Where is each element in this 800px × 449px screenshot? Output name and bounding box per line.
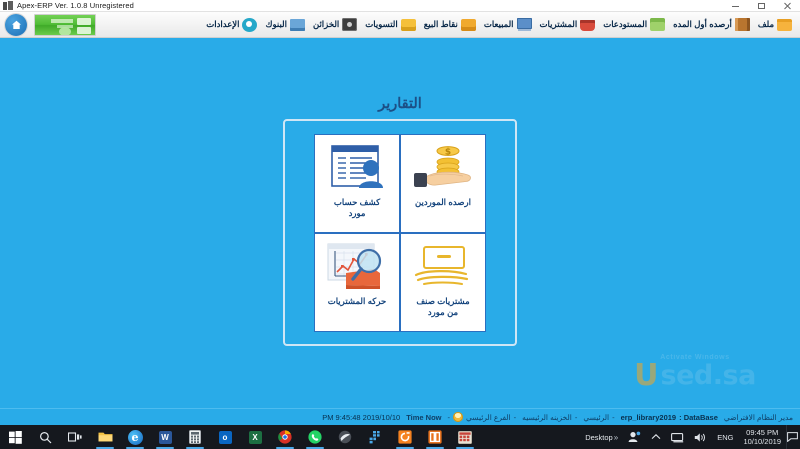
menu-item-file[interactable]: ملف: [754, 13, 796, 37]
word-icon[interactable]: W: [150, 425, 180, 449]
tile-label: حركه المشتريات: [326, 296, 389, 307]
tile-supplier-balances[interactable]: $ ارصده الموردين: [400, 134, 486, 233]
desktop-label: Desktop: [585, 433, 613, 442]
menu-item-settings[interactable]: الإعدادات: [202, 13, 261, 37]
window-titlebar: Apex-ERP Ver. 1.0.8 Unregistered: [0, 0, 800, 12]
menu-item-banks[interactable]: البنوك: [261, 13, 308, 37]
status-branch2: - الفرع الرئيسي -: [445, 412, 520, 422]
used-sa-logo: U sed.sa: [604, 362, 786, 390]
settlement-icon: [401, 17, 416, 32]
hand-with-coins-icon: $: [401, 135, 485, 197]
grid-app-icon[interactable]: [450, 425, 480, 449]
bank-icon: [290, 17, 305, 32]
status-time: Time Now: [403, 413, 444, 422]
safe-icon: [342, 17, 357, 32]
language-indicator[interactable]: ENG: [712, 425, 738, 449]
clock-time: 09:45 PM: [746, 428, 778, 437]
tile-item-purchases-from-supplier[interactable]: مشتريات صنف من مورد: [400, 233, 486, 332]
desktop-root: Apex-ERP Ver. 1.0.8 Unregistered ملف أرص…: [0, 0, 800, 449]
people-icon[interactable]: [623, 425, 646, 449]
status-database: DataBase : erp_library2019: [618, 413, 721, 422]
pos-icon: [461, 17, 476, 32]
tile-label: مشتريات صنف: [414, 296, 471, 307]
windows-taskbar: e W o X: [0, 425, 800, 449]
menu-item-label: التسويات: [365, 19, 397, 30]
menu-item-label: المستودعات: [603, 19, 647, 30]
user-avatar-icon: [453, 412, 463, 422]
status-separator: -: [448, 413, 451, 422]
status-branch-text: الرئيسي: [583, 413, 609, 422]
chrome-icon[interactable]: [270, 425, 300, 449]
page-title: التقارير: [0, 96, 800, 112]
status-treasury-text: الخزينه الرئيسيه: [522, 413, 572, 422]
media-icon[interactable]: [330, 425, 360, 449]
chart-magnifier-icon: [315, 234, 399, 296]
outlook-icon[interactable]: o: [210, 425, 240, 449]
logo-text-rest: sed.sa: [661, 362, 756, 390]
menu-item-opening-balances[interactable]: أرصده أول المده: [669, 13, 754, 37]
status-branch: - الرئيسي: [580, 413, 617, 422]
tile-label-second: من مورد: [426, 307, 460, 318]
calculator-icon[interactable]: [180, 425, 210, 449]
chevron-up-icon[interactable]: [646, 425, 666, 449]
whatsapp-icon[interactable]: [300, 425, 330, 449]
clock[interactable]: 09:45 PM 10/10/2019: [738, 428, 786, 446]
status-time-value: 2019/10/10 9:45:48 PM: [322, 413, 400, 422]
home-icon[interactable]: [5, 14, 27, 36]
folder-icon: [777, 17, 792, 32]
reports-tiles-grid: $ ارصده الموردين: [314, 134, 486, 332]
network-icon[interactable]: [666, 425, 689, 449]
logo-letter-u: U: [634, 362, 658, 390]
menu-item-sales[interactable]: المبيعات: [480, 13, 536, 37]
status-separator: -: [514, 413, 517, 422]
status-database-label: DataBase :: [679, 413, 718, 422]
clock-date: 10/10/2019: [743, 437, 781, 446]
menu-item-purchases[interactable]: المشتريات: [536, 13, 600, 37]
hand-with-box-icon: [401, 234, 485, 296]
menu-item-label: الخزائن: [313, 19, 339, 30]
reports-panel: $ ارصده الموردين: [283, 119, 517, 346]
shopping-cart-icon: [580, 17, 595, 32]
file-explorer-icon[interactable]: [90, 425, 120, 449]
status-user: مدير النظام الافتراضي: [721, 413, 796, 422]
status-branch2-text: الفرع الرئيسي: [466, 413, 511, 422]
tile-supplier-statement[interactable]: كشف حساب مورد: [314, 134, 400, 233]
window-controls: [722, 0, 800, 12]
menu-item-treasuries[interactable]: الخزائن: [309, 13, 361, 37]
status-time-value-wrap: 2019/10/10 9:45:48 PM: [319, 413, 403, 422]
maximize-icon[interactable]: [748, 0, 774, 12]
menu-item-label: نقاط البيع: [424, 19, 458, 30]
task-view-icon[interactable]: [60, 425, 90, 449]
system-tray: Desktop »: [580, 425, 800, 449]
document-person-icon: [315, 135, 399, 197]
action-center-icon[interactable]: [786, 425, 798, 449]
menu-item-label: أرصده أول المده: [673, 19, 732, 30]
warehouse-box-icon: [650, 17, 665, 32]
status-bar: مدير النظام الافتراضي DataBase : erp_lib…: [0, 408, 800, 425]
menu-item-label: ملف: [758, 19, 774, 30]
monitor-icon: [517, 17, 532, 32]
main-toolbar: ملف أرصده أول المده المستودعات المشتريات…: [0, 12, 800, 38]
status-separator: -: [612, 413, 615, 422]
volume-icon[interactable]: [689, 425, 712, 449]
book-icon: [735, 17, 750, 32]
status-treasury: - الخزينه الرئيسيه: [519, 413, 580, 422]
menu-item-label: المبيعات: [484, 19, 514, 30]
window-title: Apex-ERP Ver. 1.0.8 Unregistered: [17, 0, 134, 12]
status-database-value: erp_library2019: [621, 413, 676, 422]
menu-item-settlements[interactable]: التسويات: [361, 13, 419, 37]
minimize-icon[interactable]: [722, 0, 748, 12]
activation-watermark: Activate Windows U sed.sa: [604, 354, 786, 406]
status-user-text: مدير النظام الافتراضي: [724, 413, 793, 422]
gear-icon: [242, 17, 257, 32]
status-separator: -: [575, 413, 578, 422]
tile-label: ارصده الموردين: [413, 197, 473, 208]
menu-item-pos[interactable]: نقاط البيع: [420, 13, 480, 37]
desktop-peek-label[interactable]: Desktop »: [580, 425, 623, 449]
utility-icon[interactable]: [360, 425, 390, 449]
menu-item-warehouses[interactable]: المستودعات: [599, 13, 669, 37]
apex-window-icon[interactable]: [420, 425, 450, 449]
apex-erp-icon[interactable]: [390, 425, 420, 449]
edge-icon[interactable]: e: [120, 425, 150, 449]
excel-icon[interactable]: X: [240, 425, 270, 449]
tile-purchases-movement[interactable]: حركه المشتريات: [314, 233, 400, 332]
tile-label: كشف حساب: [332, 197, 382, 208]
close-icon[interactable]: [774, 0, 800, 12]
watermark-top-text: Activate Windows: [604, 354, 786, 361]
toolbar-menu: ملف أرصده أول المده المستودعات المشتريات…: [202, 12, 800, 38]
svg-text:$: $: [445, 147, 451, 157]
menu-item-label: البنوك: [265, 19, 286, 30]
tile-label-second: مورد: [347, 208, 368, 219]
overflow-chevron: »: [614, 433, 618, 442]
menu-item-label: الإعدادات: [206, 19, 239, 30]
app-window-icon: [3, 1, 13, 10]
start-button[interactable]: [0, 425, 30, 449]
search-icon[interactable]: [30, 425, 60, 449]
status-time-label: Time Now: [406, 413, 441, 422]
language-label: ENG: [717, 433, 733, 442]
workspace: التقارير $: [0, 38, 800, 408]
menu-item-label: المشتريات: [540, 19, 578, 30]
apex-erp-logo: [34, 14, 96, 36]
